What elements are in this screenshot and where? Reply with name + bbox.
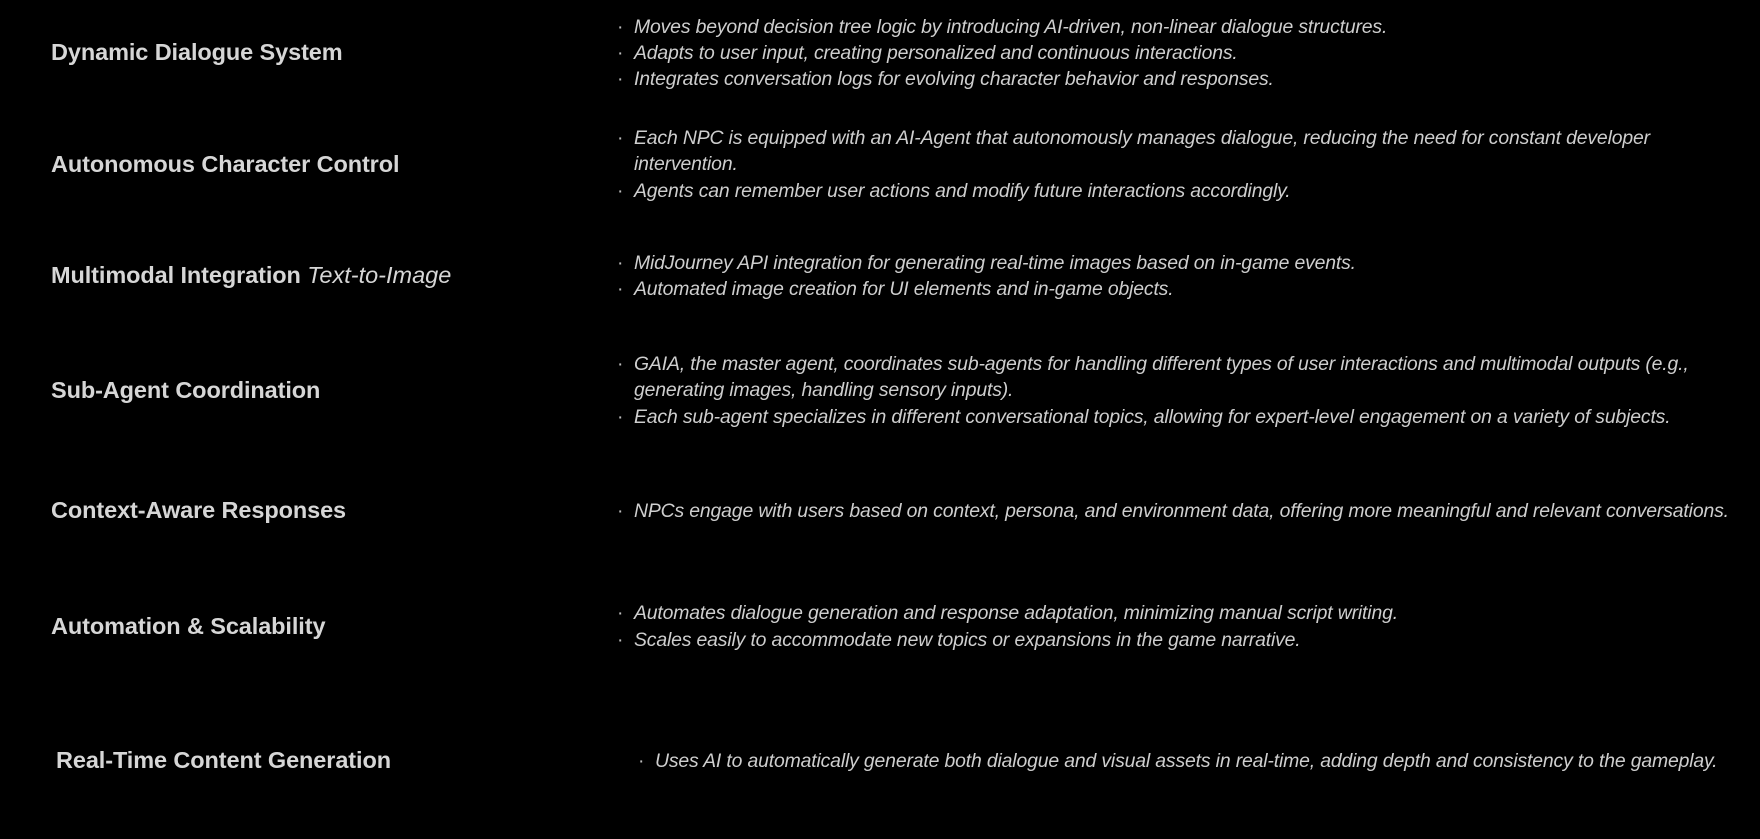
feature-title: Dynamic Dialogue System [51, 38, 603, 67]
feature-title-qualifier: Text-to-Image [307, 262, 451, 288]
feature-title-text: Dynamic Dialogue System [51, 39, 343, 65]
list-item-text: Each sub-agent specializes in different … [634, 406, 1670, 428]
bullet-dot-icon: · [617, 404, 623, 430]
feature-label-cell: Real-Time Content Generation [0, 746, 615, 775]
feature-title: Multimodal Integration Text-to-Image [51, 261, 603, 290]
list-item-text: Automated image creation for UI elements… [634, 278, 1173, 300]
bullet-dot-icon: · [617, 14, 623, 40]
feature-title-text: Context-Aware Responses [51, 497, 346, 523]
list-item: ·NPCs engage with users based on context… [615, 498, 1746, 524]
bullet-dot-icon: · [638, 748, 644, 774]
feature-details-cell: ·Moves beyond decision tree logic by int… [615, 14, 1760, 93]
list-item-text: GAIA, the master agent, coordinates sub-… [634, 353, 1689, 401]
feature-label-cell: Dynamic Dialogue System [0, 38, 615, 67]
table-row: Automation & Scalability ·Automates dial… [0, 570, 1760, 683]
bullet-dot-icon: · [617, 178, 623, 204]
feature-label-cell: Multimodal Integration Text-to-Image [0, 261, 615, 290]
list-item-text: Each NPC is equipped with an AI-Agent th… [634, 127, 1650, 175]
feature-title: Sub-Agent Coordination [51, 376, 603, 405]
table-row: Multimodal Integration Text-to-Image ·Mi… [0, 223, 1760, 329]
bullet-list: ·NPCs engage with users based on context… [615, 498, 1746, 524]
list-item: ·Each NPC is equipped with an AI-Agent t… [615, 125, 1746, 177]
list-item: ·Moves beyond decision tree logic by int… [615, 14, 1746, 40]
bullet-dot-icon: · [617, 250, 623, 276]
list-item-text: MidJourney API integration for generatin… [634, 252, 1356, 274]
feature-label-cell: Automation & Scalability [0, 612, 615, 641]
table-row: Autonomous Character Control ·Each NPC i… [0, 106, 1760, 223]
list-item: ·Agents can remember user actions and mo… [615, 178, 1746, 204]
feature-title-text: Automation & Scalability [51, 613, 325, 639]
bullet-dot-icon: · [617, 627, 623, 653]
list-item: ·Scales easily to accommodate new topics… [615, 627, 1746, 653]
list-item-text: NPCs engage with users based on context,… [634, 500, 1729, 522]
bullet-list: ·MidJourney API integration for generati… [615, 250, 1746, 302]
bullet-dot-icon: · [617, 276, 623, 302]
feature-label-cell: Sub-Agent Coordination [0, 376, 615, 405]
feature-details-cell: ·Each NPC is equipped with an AI-Agent t… [615, 125, 1760, 204]
list-item: ·MidJourney API integration for generati… [615, 250, 1746, 276]
list-item-text: Uses AI to automatically generate both d… [655, 750, 1717, 772]
feature-title-text: Real-Time Content Generation [56, 747, 391, 773]
list-item-text: Automates dialogue generation and respon… [634, 602, 1398, 624]
list-item: ·Automated image creation for UI element… [615, 276, 1746, 302]
table-row: Dynamic Dialogue System ·Moves beyond de… [0, 0, 1760, 106]
bullet-list: ·Each NPC is equipped with an AI-Agent t… [615, 125, 1746, 204]
feature-details-cell: ·MidJourney API integration for generati… [615, 250, 1760, 302]
feature-title-text: Autonomous Character Control [51, 151, 399, 177]
feature-label-cell: Autonomous Character Control [0, 150, 615, 179]
bullet-dot-icon: · [617, 498, 623, 524]
table-row: Sub-Agent Coordination ·GAIA, the master… [0, 329, 1760, 452]
list-item: ·Each sub-agent specializes in different… [615, 404, 1746, 430]
list-item: ·Uses AI to automatically generate both … [636, 748, 1746, 774]
bullet-list: ·Automates dialogue generation and respo… [615, 600, 1746, 652]
list-item-text: Adapts to user input, creating personali… [634, 42, 1238, 64]
bullet-dot-icon: · [617, 125, 623, 151]
feature-title: Context-Aware Responses [51, 496, 603, 525]
list-item-text: Integrates conversation logs for evolvin… [634, 68, 1274, 90]
feature-title: Autonomous Character Control [51, 150, 603, 179]
feature-details-cell: ·Automates dialogue generation and respo… [615, 600, 1760, 652]
list-item: ·Integrates conversation logs for evolvi… [615, 66, 1746, 92]
list-item: ·GAIA, the master agent, coordinates sub… [615, 351, 1746, 403]
feature-title: Automation & Scalability [51, 612, 603, 641]
list-item: ·Automates dialogue generation and respo… [615, 600, 1746, 626]
bullet-dot-icon: · [617, 40, 623, 66]
feature-details-cell: ·NPCs engage with users based on context… [615, 498, 1760, 524]
list-item-text: Moves beyond decision tree logic by intr… [634, 16, 1387, 38]
feature-comparison-table: Dynamic Dialogue System ·Moves beyond de… [0, 0, 1760, 839]
bullet-dot-icon: · [617, 600, 623, 626]
bullet-list: ·GAIA, the master agent, coordinates sub… [615, 351, 1746, 430]
bullet-list: ·Uses AI to automatically generate both … [636, 748, 1746, 774]
feature-title-text: Sub-Agent Coordination [51, 377, 320, 403]
table-row: Real-Time Content Generation ·Uses AI to… [0, 683, 1760, 839]
feature-title-text: Multimodal Integration [51, 262, 301, 288]
bullet-dot-icon: · [617, 66, 623, 92]
feature-label-cell: Context-Aware Responses [0, 496, 615, 525]
bullet-dot-icon: · [617, 351, 623, 377]
list-item: ·Adapts to user input, creating personal… [615, 40, 1746, 66]
feature-title: Real-Time Content Generation [56, 746, 603, 775]
feature-details-cell: ·GAIA, the master agent, coordinates sub… [615, 351, 1760, 430]
table-row: Context-Aware Responses ·NPCs engage wit… [0, 452, 1760, 570]
feature-details-cell: ·Uses AI to automatically generate both … [615, 748, 1760, 774]
list-item-text: Agents can remember user actions and mod… [634, 180, 1290, 202]
list-item-text: Scales easily to accommodate new topics … [634, 629, 1301, 651]
bullet-list: ·Moves beyond decision tree logic by int… [615, 14, 1746, 93]
